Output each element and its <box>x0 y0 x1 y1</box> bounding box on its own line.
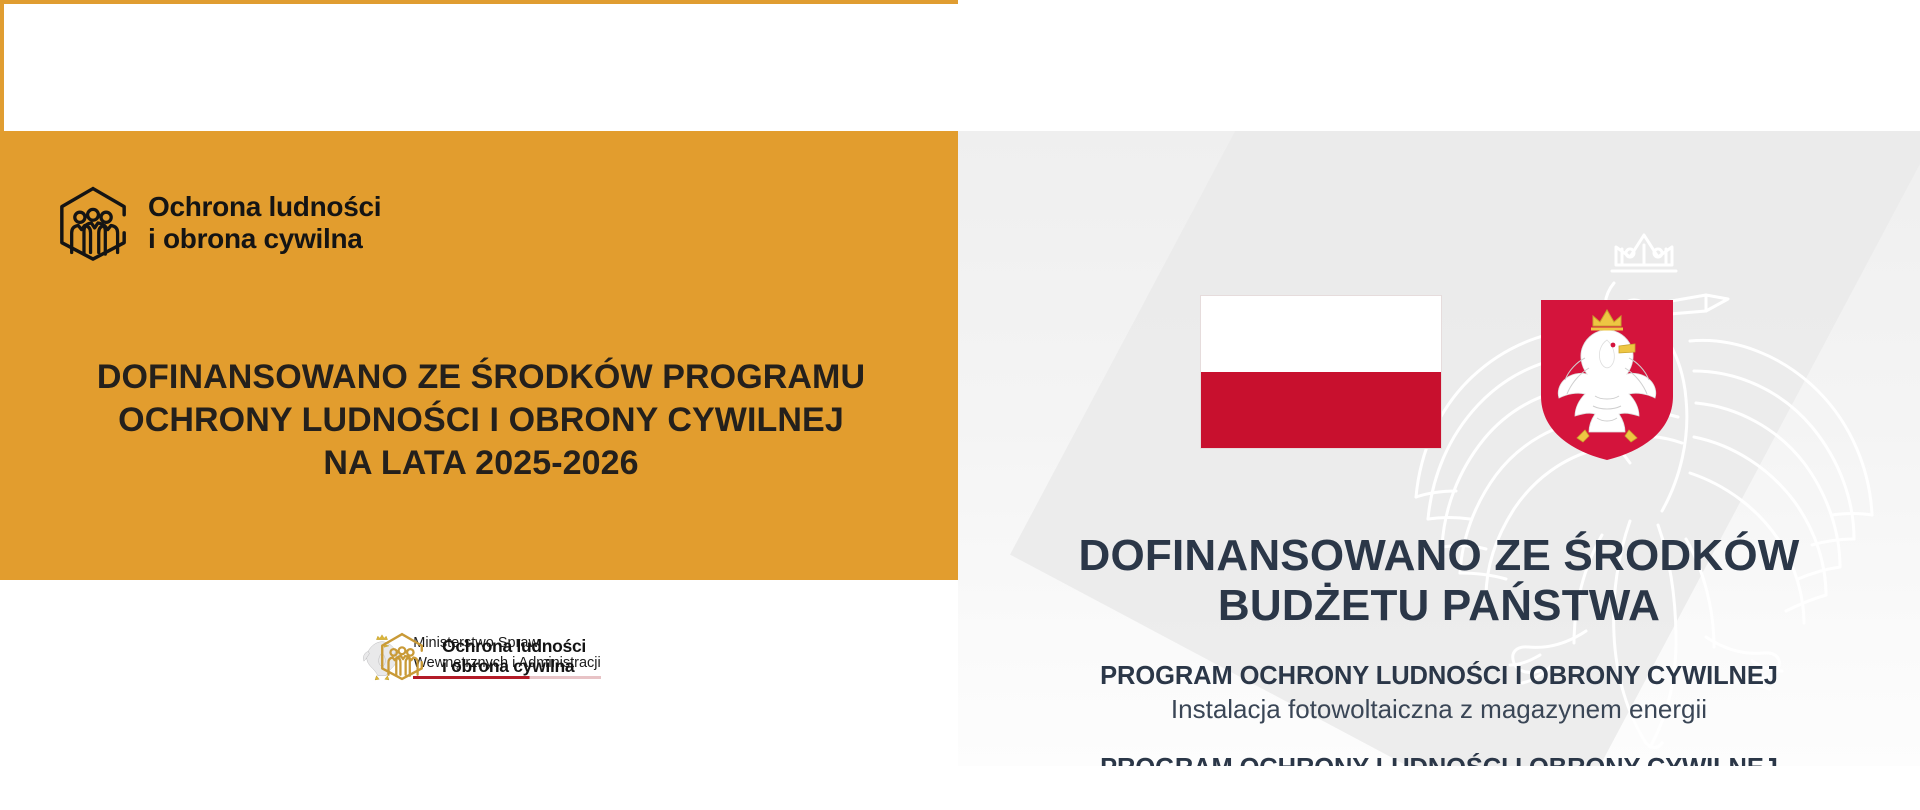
right-panel: DOFINANSOWANO ZE ŚRODKÓW BUDŻETU PAŃSTWA… <box>958 0 1920 810</box>
flag-stripe-red <box>1201 372 1441 448</box>
orange-frame-left-border <box>0 0 4 131</box>
orange-frame-top-border <box>0 0 958 4</box>
right-panel-title: DOFINANSOWANO ZE ŚRODKÓW BUDŻETU PAŃSTWA <box>958 531 1920 630</box>
footer-logo-line-2: i obrona cywilna <box>442 656 586 676</box>
civil-protection-footer-text: Ochrona ludności i obrona cywilna <box>442 636 586 677</box>
civil-protection-logo-text: Ochrona ludności i obrona cywilna <box>148 191 381 256</box>
program-block-2: PROGRAM OCHRONY LUDNOŚCI I OBRONY CYWILN… <box>958 753 1920 766</box>
polish-coat-of-arms <box>1537 296 1677 464</box>
ochrona-ludnosci-hexagon-people-icon <box>52 182 134 264</box>
footer-logo-line-1: Ochrona ludności <box>442 636 586 656</box>
headline-line-3: NA LATA 2025-2026 <box>4 442 958 485</box>
civil-protection-logo-footer: Ochrona ludności i obrona cywilna <box>376 630 586 682</box>
program-1-name: PROGRAM OCHRONY LUDNOŚCI I OBRONY CYWILN… <box>958 661 1920 692</box>
poster-page: Ochrona ludności i obrona cywilna DOFINA… <box>0 0 1920 810</box>
logo-line-2: i obrona cywilna <box>148 223 381 255</box>
right-title-line-2: BUDŻETU PAŃSTWA <box>958 581 1920 631</box>
left-panel: Ochrona ludności i obrona cywilna DOFINA… <box>0 0 958 810</box>
flag-stripe-white <box>1201 296 1441 372</box>
ochrona-ludnosci-hexagon-people-icon <box>376 630 428 682</box>
polish-flag <box>1201 296 1441 448</box>
right-panel-body: DOFINANSOWANO ZE ŚRODKÓW BUDŻETU PAŃSTWA… <box>958 131 1920 766</box>
headline-line-1: DOFINANSOWANO ZE ŚRODKÓW PROGRAMU <box>4 356 958 399</box>
right-title-line-1: DOFINANSOWANO ZE ŚRODKÓW <box>958 531 1920 581</box>
orange-headline: DOFINANSOWANO ZE ŚRODKÓW PROGRAMU OCHRON… <box>4 356 958 484</box>
civil-protection-logo-top: Ochrona ludności i obrona cywilna <box>52 182 381 264</box>
program-2-name: PROGRAM OCHRONY LUDNOŚCI I OBRONY CYWILN… <box>958 753 1920 766</box>
logo-line-1: Ochrona ludności <box>148 191 381 223</box>
headline-line-2: OCHRONY LUDNOŚCI I OBRONY CYWILNEJ <box>4 399 958 442</box>
program-1-desc-line-1: Instalacja fotowoltaiczna z magazynem en… <box>958 694 1920 725</box>
footer-logo-strip: Ministerstwo Spraw Wewnętrznych i Admini… <box>4 630 958 682</box>
program-block-1: PROGRAM OCHRONY LUDNOŚCI I OBRONY CYWILN… <box>958 661 1920 725</box>
right-panel-top-margin <box>958 0 1920 131</box>
right-panel-bottom-margin <box>958 766 1920 810</box>
emblems-row <box>958 296 1920 464</box>
